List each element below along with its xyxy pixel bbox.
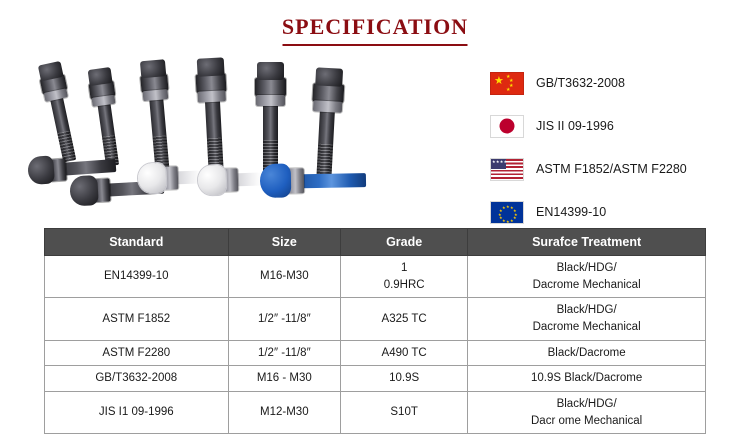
china-flag-big-star: ★ bbox=[494, 76, 504, 87]
eu-flag-icon: ★ ★ ★ ★ ★ ★ ★ ★ ★ ★ ★ ★ bbox=[490, 201, 524, 224]
product-photo bbox=[18, 58, 458, 206]
page-title-text: SPECIFICATION bbox=[282, 14, 468, 39]
usa-flag-icon: ★★★★★★★★★★★★★★★★★★ bbox=[490, 158, 524, 181]
cell-grade: 1 0.9HRC bbox=[341, 256, 468, 298]
specification-table: Standard Size Grade Surafce Treatment EN… bbox=[44, 228, 706, 434]
standard-item-en: ★ ★ ★ ★ ★ ★ ★ ★ ★ ★ ★ ★ EN14399-10 bbox=[490, 197, 740, 227]
standard-label-gb: GB/T3632-2008 bbox=[536, 76, 625, 90]
table-row: ASTM F1852 1/2″ -11/8″ A325 TC Black/HDG… bbox=[45, 298, 706, 340]
standard-label-jis: JIS II 09-1996 bbox=[536, 119, 614, 133]
column-header-grade: Grade bbox=[341, 229, 468, 256]
standard-item-jis: JIS II 09-1996 bbox=[490, 111, 740, 141]
cell-standard: EN14399-10 bbox=[45, 256, 229, 298]
eu-star-10: ★ bbox=[498, 213, 502, 217]
column-header-surface-treatment: Surafce Treatment bbox=[468, 229, 706, 256]
table-row: GB/T3632-2008 M16 - M30 10.9S 10.9S Blac… bbox=[45, 366, 706, 392]
title-underline bbox=[283, 44, 468, 46]
cell-treatment-line2: Dacrome Mechanical bbox=[472, 277, 701, 294]
standard-label-en: EN14399-10 bbox=[536, 205, 606, 219]
cell-size: 1/2″ -11/8″ bbox=[228, 298, 340, 340]
table-row: ASTM F2280 1/2″ -11/8″ A490 TC Black/Dac… bbox=[45, 340, 706, 366]
table-body: EN14399-10 M16-M30 1 0.9HRC Black/HDG/ D… bbox=[45, 256, 706, 434]
table-head: Standard Size Grade Surafce Treatment bbox=[45, 229, 706, 256]
eu-star-7: ★ bbox=[506, 220, 510, 224]
table-row: JIS I1 09-1996 M12-M30 S10T Black/HDG/ D… bbox=[45, 392, 706, 434]
cell-standard: JIS I1 09-1996 bbox=[45, 392, 229, 434]
cell-standard: ASTM F1852 bbox=[45, 298, 229, 340]
standard-item-gb: ★ ★ ★ ★ ★ GB/T3632-2008 bbox=[490, 68, 740, 98]
cell-treatment-line2: Dacrome Mechanical bbox=[472, 319, 701, 336]
cell-size: M16 - M30 bbox=[228, 366, 340, 392]
cell-treatment: Black/HDG/ Dacrome Mechanical bbox=[468, 256, 706, 298]
cell-grade-line1: 1 bbox=[345, 260, 463, 277]
japan-flag-disc bbox=[500, 119, 515, 134]
cell-treatment-line1: Black/HDG/ bbox=[472, 260, 701, 277]
cell-treatment-line1: Black/HDG/ bbox=[472, 302, 701, 319]
bolt-blue-head bbox=[260, 159, 371, 203]
cell-treatment: Black/Dacrome bbox=[468, 340, 706, 366]
usa-flag-canton: ★★★★★★★★★★★★★★★★★★ bbox=[491, 159, 506, 169]
cell-standard: GB/T3632-2008 bbox=[45, 366, 229, 392]
page-title: SPECIFICATION bbox=[282, 14, 468, 46]
cell-treatment-line2: Dacr ome Mechanical bbox=[472, 413, 701, 430]
japan-flag-icon bbox=[490, 115, 524, 138]
cell-standard: ASTM F2280 bbox=[45, 340, 229, 366]
cell-size: M16-M30 bbox=[228, 256, 340, 298]
column-header-size: Size bbox=[228, 229, 340, 256]
cell-treatment: Black/HDG/ Dacrome Mechanical bbox=[468, 298, 706, 340]
cell-grade: A490 TC bbox=[341, 340, 468, 366]
eu-star-12: ★ bbox=[502, 206, 506, 210]
cell-size: M12-M30 bbox=[228, 392, 340, 434]
cell-treatment: 10.9S Black/Dacrome bbox=[468, 366, 706, 392]
cell-size: 1/2″ -11/8″ bbox=[228, 340, 340, 366]
standards-list: ★ ★ ★ ★ ★ GB/T3632-2008 JIS II 09-1996 ★… bbox=[490, 68, 740, 240]
china-flag-icon: ★ ★ ★ ★ ★ bbox=[490, 72, 524, 95]
cell-treatment: Black/HDG/ Dacr ome Mechanical bbox=[468, 392, 706, 434]
page-title-container: SPECIFICATION bbox=[0, 14, 750, 46]
table-row: EN14399-10 M16-M30 1 0.9HRC Black/HDG/ D… bbox=[45, 256, 706, 298]
cell-treatment-line1: Black/HDG/ bbox=[472, 396, 701, 413]
china-flag-small-star-4: ★ bbox=[506, 88, 510, 93]
cell-grade-line2: 0.9HRC bbox=[345, 277, 463, 294]
eu-star-6: ★ bbox=[510, 219, 514, 223]
cell-grade: S10T bbox=[341, 392, 468, 434]
cell-grade: A325 TC bbox=[341, 298, 468, 340]
standard-label-astm: ASTM F1852/ASTM F2280 bbox=[536, 162, 687, 176]
table-header-row: Standard Size Grade Surafce Treatment bbox=[45, 229, 706, 256]
cell-grade: 10.9S bbox=[341, 366, 468, 392]
column-header-standard: Standard bbox=[45, 229, 229, 256]
standard-item-astm: ★★★★★★★★★★★★★★★★★★ ASTM F1852/ASTM F2280 bbox=[490, 154, 740, 184]
